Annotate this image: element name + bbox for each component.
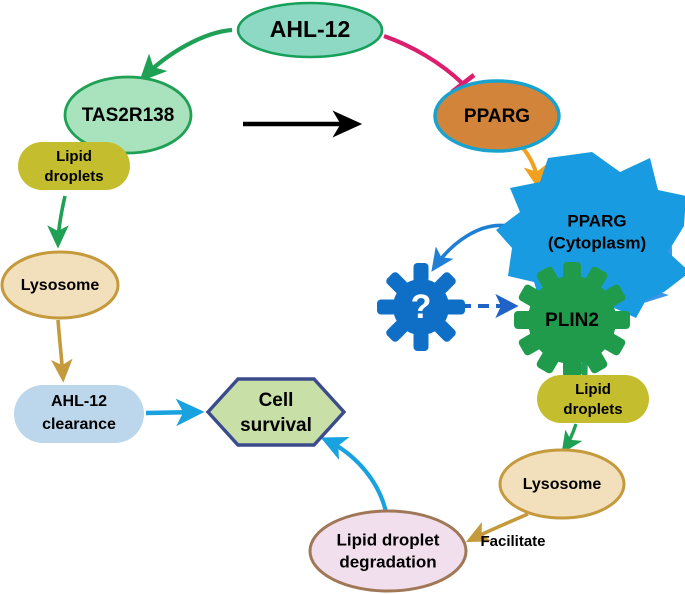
node-lysosome-right[interactable]: Lysosome	[500, 450, 624, 518]
edge-label-facilitate: Facilitate	[480, 533, 545, 550]
edge-pparg-cytoplasm-to-unknown	[434, 225, 508, 268]
node-lipid-droplets-left-label-line1: Lipid	[56, 148, 92, 165]
node-lipid-droplets-right[interactable]: Lipid droplets	[537, 375, 649, 423]
edge-tas2r138-to-lysosome	[58, 196, 65, 244]
node-lipid-droplet-degradation[interactable]: Lipid droplet degradation	[310, 511, 466, 591]
edge-ahl12-inhibits-pparg	[384, 36, 474, 92]
node-cell-survival[interactable]: Cell survival	[208, 379, 344, 445]
node-ahl12-clearance[interactable]: AHL-12 clearance	[14, 385, 144, 443]
node-lysosome-left-label: Lysosome	[21, 277, 100, 294]
node-ahl12[interactable]: AHL-12	[238, 3, 382, 57]
edge-lipid-droplets-to-lysosome	[564, 424, 576, 450]
diagram-canvas: AHL-12 TAS2R138 Lipid droplets Lysosome …	[0, 0, 685, 594]
node-tas2r138[interactable]: TAS2R138	[65, 77, 191, 153]
node-ahl12-label: AHL-12	[270, 16, 351, 42]
edge-pparg-to-pparg-cytoplasm	[523, 148, 539, 186]
node-lysosome-left[interactable]: Lysosome	[2, 252, 118, 318]
edge-degradation-to-cell-survival	[326, 440, 386, 512]
node-lipid-droplets-right-label-line2: droplets	[563, 401, 622, 418]
node-lipid-droplets-left[interactable]: Lipid droplets	[18, 142, 130, 190]
node-lipid-droplet-degradation-label-line2: degradation	[339, 552, 436, 571]
node-ahl12-clearance-label-line2: clearance	[42, 416, 116, 433]
node-cell-survival-label-line1: Cell	[259, 390, 294, 411]
node-pparg-label: PPARG	[464, 106, 530, 127]
node-unknown-label: ?	[411, 288, 432, 326]
edge-plin2-to-lipid-droplets	[582, 362, 586, 372]
node-pparg-cytoplasm-label-line1: PPARG	[567, 211, 626, 230]
node-pparg-cytoplasm-label-line2: (Cytoplasm)	[548, 233, 646, 252]
node-lipid-droplets-right-label-line1: Lipid	[575, 381, 611, 398]
node-lipid-droplets-left-label-line2: droplets	[44, 168, 103, 185]
node-tas2r138-label: TAS2R138	[82, 105, 175, 126]
node-pparg[interactable]: PPARG	[435, 81, 559, 151]
edge-ahl12-to-tas2r138	[143, 30, 232, 78]
edge-clearance-to-cell-survival	[146, 412, 198, 413]
node-lysosome-right-label: Lysosome	[523, 476, 602, 493]
node-cell-survival-label-line2: survival	[240, 415, 312, 436]
node-ahl12-clearance-label-line1: AHL-12	[51, 393, 107, 410]
pathway-diagram: AHL-12 TAS2R138 Lipid droplets Lysosome …	[0, 0, 685, 594]
node-unknown[interactable]: ?	[377, 263, 465, 351]
node-plin2-label: PLIN2	[545, 310, 599, 331]
edge-lysosome-to-clearance	[58, 320, 63, 378]
node-lipid-droplet-degradation-label-line1: Lipid droplet	[337, 530, 440, 549]
